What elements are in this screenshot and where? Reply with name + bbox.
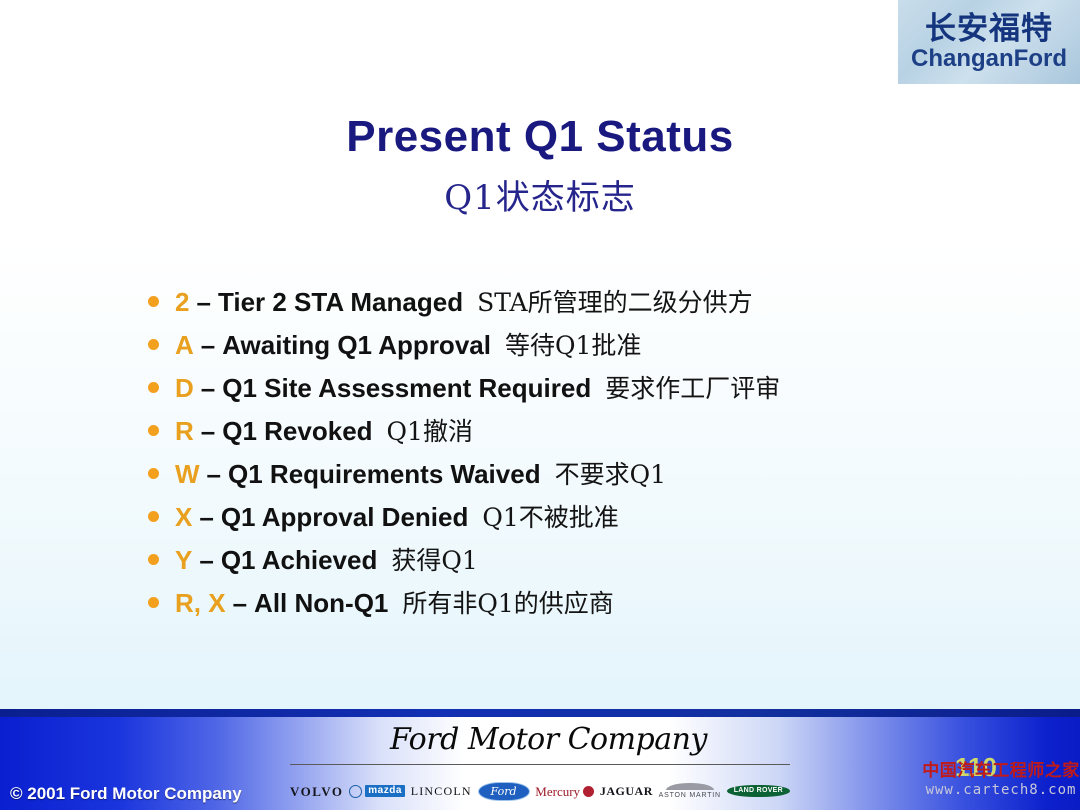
status-code: A: [175, 330, 194, 361]
slide-title: Present Q1 Status: [0, 112, 1080, 162]
dash-separator: –: [199, 545, 213, 576]
bullet-dot-icon: [148, 382, 159, 393]
status-code: W: [175, 459, 200, 490]
status-label-en: Tier 2 STA Managed: [218, 287, 463, 318]
changan-ford-logo: 长安福特 ChanganFord: [898, 0, 1080, 84]
list-item: W – Q1 Requirements Waived 不要求Q1: [148, 455, 1008, 498]
status-label-en: All Non-Q1: [254, 588, 388, 619]
status-label-cn: 要求作工厂评审: [605, 369, 780, 405]
jaguar-logo: JAGUAR: [600, 785, 653, 797]
volvo-logo: VOLVO: [290, 785, 343, 798]
bullet-dot-icon: [148, 554, 159, 565]
status-code: D: [175, 373, 194, 404]
dash-separator: –: [207, 459, 221, 490]
brand-logo-strip: VOLVO mazda LINCOLN Ford Mercury JAGUAR …: [290, 780, 790, 802]
list-item: D – Q1 Site Assessment Required 要求作工厂评审: [148, 369, 1008, 412]
lincoln-logo: LINCOLN: [411, 785, 472, 797]
footer-divider-rule: [0, 709, 1080, 717]
bullet-dot-icon: [148, 511, 159, 522]
dash-separator: –: [196, 287, 210, 318]
dash-separator: –: [233, 588, 247, 619]
status-label-cn: Q1不被批准: [482, 498, 618, 534]
slide-canvas: 长安福特 ChanganFord Present Q1 Status Q1状态标…: [0, 0, 1080, 810]
status-label-en: Q1 Achieved: [221, 545, 378, 576]
bullet-dot-icon: [148, 468, 159, 479]
status-code: X: [175, 502, 192, 533]
watermark-chinese-text: 中国汽车工程师之家: [922, 762, 1080, 781]
logo-english-text: ChanganFord: [911, 46, 1067, 71]
dash-separator: –: [201, 330, 215, 361]
mazda-logo: mazda: [349, 785, 405, 798]
status-label-cn: STA所管理的二级分供方: [477, 283, 753, 319]
ford-oval-logo: Ford: [478, 782, 530, 801]
aston-martin-logo: ASTON MARTIN: [659, 783, 721, 799]
brand-strip-divider: [290, 764, 790, 765]
list-item: R – Q1 Revoked Q1撤消: [148, 412, 1008, 455]
status-label-en: Q1 Revoked: [222, 416, 372, 447]
list-item: Y – Q1 Achieved 获得Q1: [148, 541, 1008, 584]
slide-subtitle: Q1状态标志: [0, 170, 1080, 219]
bullet-dot-icon: [148, 425, 159, 436]
bullet-dot-icon: [148, 296, 159, 307]
status-code: 2: [175, 287, 189, 318]
dash-separator: –: [199, 502, 213, 533]
bullet-dot-icon: [148, 339, 159, 350]
dash-separator: –: [201, 416, 215, 447]
copyright-text: © 2001 Ford Motor Company: [10, 784, 242, 804]
mazda-wordmark: mazda: [365, 785, 405, 797]
mazda-mark-icon: [349, 785, 362, 798]
aston-wings-icon: [666, 783, 714, 790]
status-code: Y: [175, 545, 192, 576]
status-label-cn: Q1撤消: [387, 412, 473, 448]
aston-wordmark: ASTON MARTIN: [659, 792, 721, 799]
mercury-logo: Mercury: [535, 785, 594, 798]
status-label-cn: 所有非Q1的供应商: [402, 584, 613, 620]
status-label-cn: 等待Q1批准: [505, 326, 641, 362]
dash-separator: –: [201, 373, 215, 404]
status-label-en: Q1 Approval Denied: [221, 502, 469, 533]
land-rover-logo: LAND ROVER: [727, 785, 790, 796]
watermark-url-text: www.cartech8.com: [922, 782, 1080, 799]
status-label-cn: 获得Q1: [391, 541, 477, 577]
status-code-list: 2 – Tier 2 STA Managed STA所管理的二级分供方 A – …: [148, 283, 1008, 627]
ford-motor-company-logo: Ford Motor Company: [390, 722, 690, 757]
status-label-en: Q1 Site Assessment Required: [222, 373, 591, 404]
list-item: X – Q1 Approval Denied Q1不被批准: [148, 498, 1008, 541]
status-label-cn: 不要求Q1: [555, 455, 666, 491]
list-item: 2 – Tier 2 STA Managed STA所管理的二级分供方: [148, 283, 1008, 326]
bullet-dot-icon: [148, 597, 159, 608]
list-item: R, X – All Non-Q1 所有非Q1的供应商: [148, 584, 1008, 627]
list-item: A – Awaiting Q1 Approval 等待Q1批准: [148, 326, 1008, 369]
status-code: R: [175, 416, 194, 447]
mercury-wordmark: Mercury: [535, 785, 580, 798]
status-label-en: Awaiting Q1 Approval: [222, 330, 491, 361]
site-watermark: 中国汽车工程师之家 www.cartech8.com: [922, 762, 1080, 798]
status-label-en: Q1 Requirements Waived: [228, 459, 541, 490]
logo-chinese-text: 长安福特: [925, 13, 1053, 46]
status-code: R, X: [175, 588, 226, 619]
mercury-orb-icon: [583, 786, 594, 797]
